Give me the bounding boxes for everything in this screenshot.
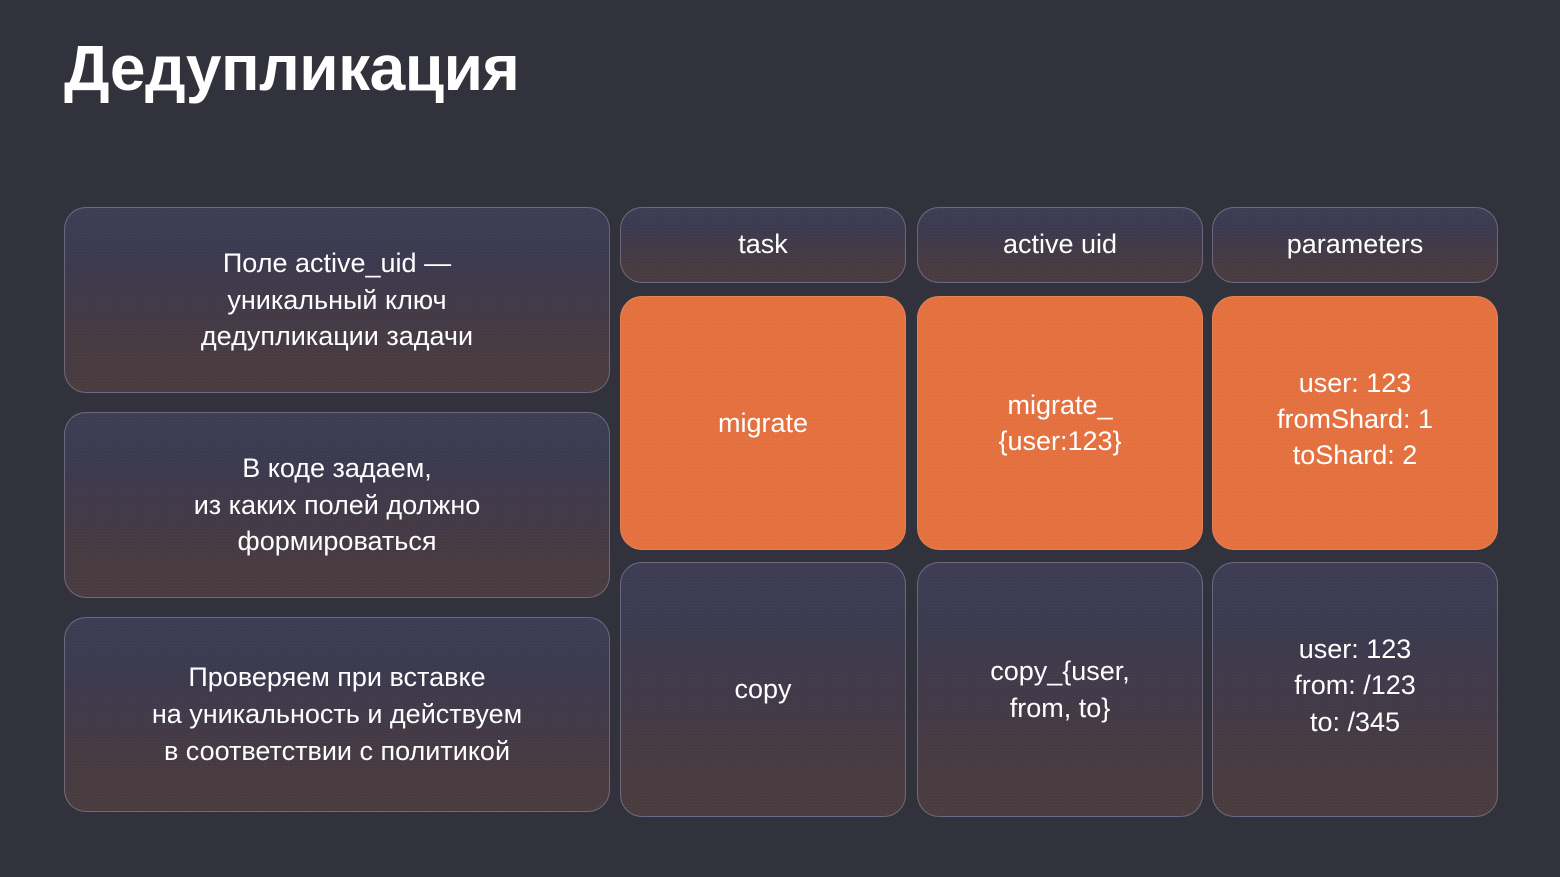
table-header-parameters: parameters [1212, 207, 1498, 283]
info-card-insert-check: Проверяем при вставке на уникальность и … [64, 617, 610, 812]
table-row: copy [620, 562, 906, 817]
table-row: user: 123 fromShard: 1 toShard: 2 [1212, 296, 1498, 550]
table-cell-active-uid: copy_{user, from, to} [972, 653, 1148, 725]
info-card-active-uid: Поле active_uid — уникальный ключ дедупл… [64, 207, 610, 393]
table-header-active-uid: active uid [917, 207, 1203, 283]
table-cell-task: migrate [700, 405, 826, 441]
info-card-code-definition: В коде задаем, из каких полей должно фор… [64, 412, 610, 598]
table-cell-active-uid: migrate_ {user:123} [980, 387, 1139, 459]
table-header-label: active uid [985, 227, 1135, 263]
table-row: migrate [620, 296, 906, 550]
page-title: Дедупликация [64, 36, 519, 100]
info-card-text: В коде задаем, из каких полей должно фор… [176, 450, 499, 560]
table-row: migrate_ {user:123} [917, 296, 1203, 550]
table-cell-task: copy [716, 671, 809, 707]
info-card-text: Поле active_uid — уникальный ключ дедупл… [183, 245, 491, 355]
table-row: user: 123 from: /123 to: /345 [1212, 562, 1498, 817]
info-card-text: Проверяем при вставке на уникальность и … [134, 659, 540, 769]
table-cell-parameters: user: 123 fromShard: 1 toShard: 2 [1259, 365, 1451, 474]
table-row: copy_{user, from, to} [917, 562, 1203, 817]
table-cell-parameters: user: 123 from: /123 to: /345 [1276, 631, 1434, 740]
table-header-label: task [720, 227, 806, 263]
table-header-task: task [620, 207, 906, 283]
table-header-label: parameters [1269, 227, 1442, 263]
